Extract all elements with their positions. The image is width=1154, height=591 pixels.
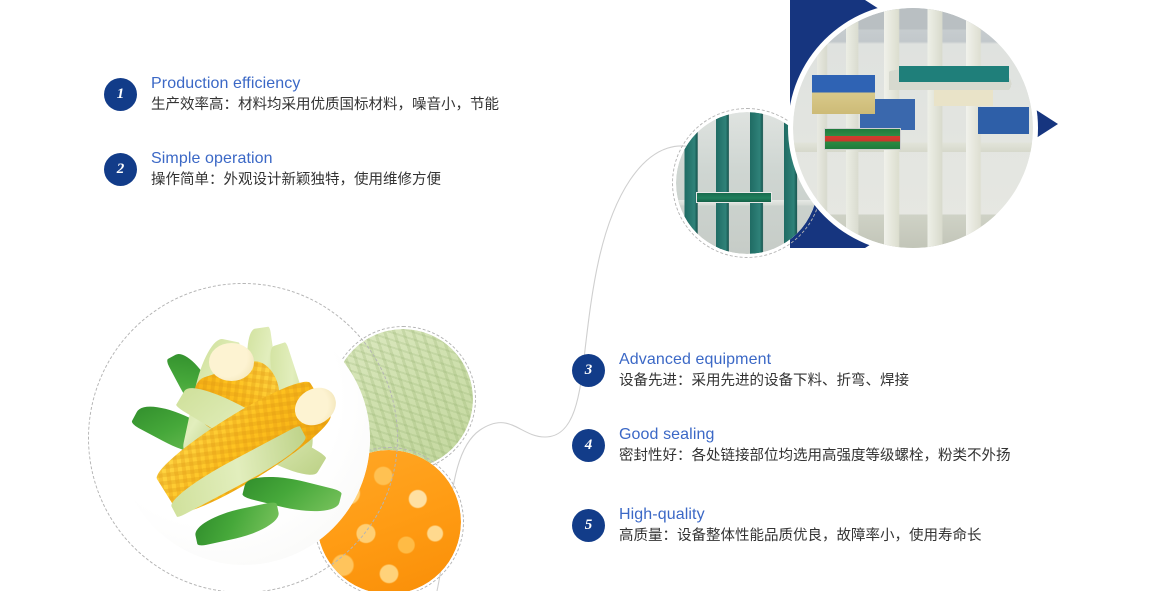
feature-item-4[interactable]: 4 Good sealing 密封性好：各处链接部位均选用高强度等级螺栓，粉类不…	[572, 427, 1011, 467]
feature-badge-4: 4	[572, 429, 605, 462]
feature-number-5: 5	[572, 509, 605, 542]
feature-title-5: High-quality	[619, 504, 982, 525]
feature-description-2: 操作简单：外观设计新颖独特，使用维修方便	[151, 169, 441, 191]
feature-badge-3: 3	[572, 354, 605, 387]
feature-title-3: Advanced equipment	[619, 349, 909, 370]
feature-title-1: Production efficiency	[151, 73, 499, 94]
feature-description-5: 高质量：设备整体性能品质优良，故障率小，使用寿命长	[619, 525, 982, 547]
feature-number-4: 4	[572, 429, 605, 462]
product-advantages-infographic: 1 Production efficiency 生产效率高：材料均采用优质国标材…	[0, 0, 1154, 591]
fresh-corn-cob-photo	[118, 313, 370, 565]
feature-item-2[interactable]: 2 Simple operation 操作简单：外观设计新颖独特，使用维修方便	[104, 151, 441, 191]
flour-milling-plant-photo	[793, 8, 1033, 248]
feature-title-4: Good sealing	[619, 424, 1011, 445]
feature-badge-5: 5	[572, 509, 605, 542]
feature-description-1: 生产效率高：材料均采用优质国标材料，噪音小，节能	[151, 94, 499, 116]
feature-description-3: 设备先进：采用先进的设备下料、折弯、焊接	[619, 370, 909, 392]
feature-badge-2: 2	[104, 153, 137, 186]
feature-item-5[interactable]: 5 High-quality 高质量：设备整体性能品质优良，故障率小，使用寿命长	[572, 507, 982, 547]
feature-item-3[interactable]: 3 Advanced equipment 设备先进：采用先进的设备下料、折弯、焊…	[572, 352, 909, 392]
feature-number-1: 1	[104, 78, 137, 111]
feature-badge-1: 1	[104, 78, 137, 111]
feature-item-1[interactable]: 1 Production efficiency 生产效率高：材料均采用优质国标材…	[104, 76, 499, 116]
feature-title-2: Simple operation	[151, 148, 441, 169]
feature-number-3: 3	[572, 354, 605, 387]
feature-description-4: 密封性好：各处链接部位均选用高强度等级螺栓，粉类不外扬	[619, 445, 1011, 467]
feature-number-2: 2	[104, 153, 137, 186]
